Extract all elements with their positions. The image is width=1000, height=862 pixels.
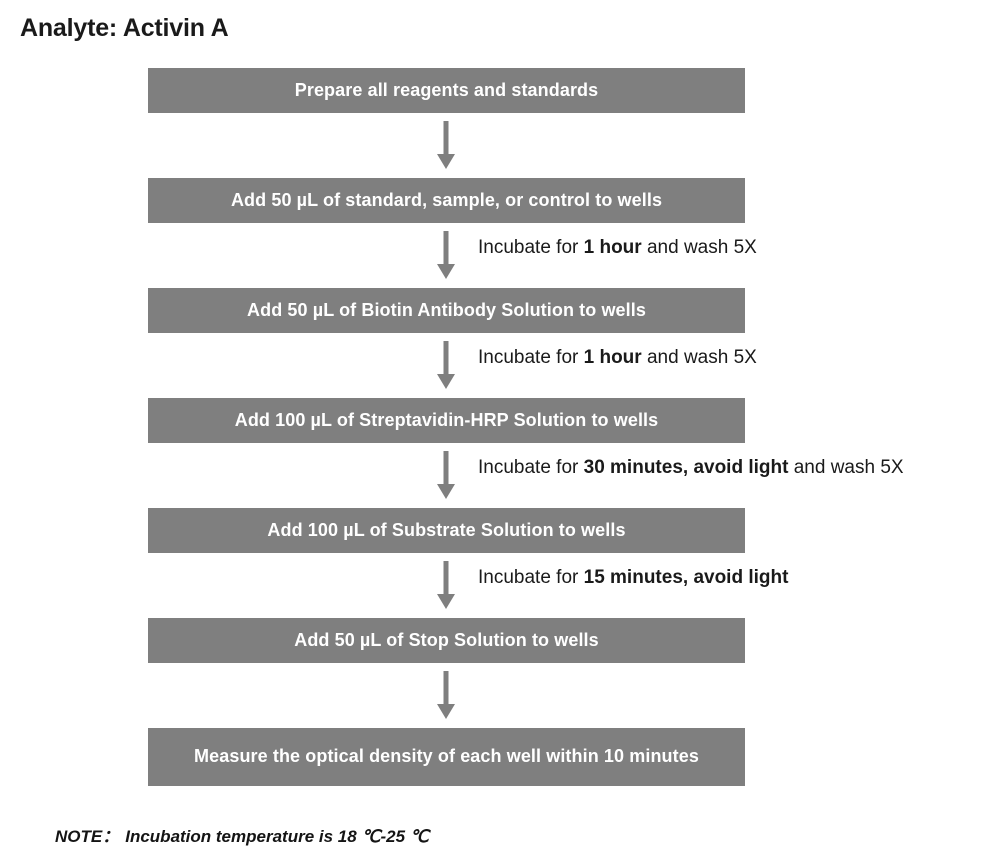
note-prefix: Incubate for <box>478 237 584 258</box>
down-arrow-icon <box>436 671 456 721</box>
note-suffix: and wash 5X <box>642 347 757 368</box>
arrow-shaft <box>444 231 449 267</box>
flow-connector-note: Incubate for 1 hour and wash 5X <box>478 347 757 370</box>
flow-connector-note: Incubate for 1 hour and wash 5X <box>478 237 757 260</box>
flow-connector-5: Incubate for 15 minutes, avoid light <box>148 553 745 618</box>
protocol-flowchart: Prepare all reagents and standards Add 5… <box>148 68 745 786</box>
arrow-head <box>437 154 455 169</box>
down-arrow-icon <box>436 451 456 501</box>
flow-step-add-biotin-antibody: Add 50 µL of Biotin Antibody Solution to… <box>148 288 745 333</box>
flow-step-label: Add 50 µL of Biotin Antibody Solution to… <box>247 299 646 322</box>
flowchart-page: Analyte: Activin A Prepare all reagents … <box>0 0 1000 862</box>
arrow-head <box>437 704 455 719</box>
flow-connector-note: Incubate for 15 minutes, avoid light <box>478 567 788 590</box>
flow-step-measure-optical-density: Measure the optical density of each well… <box>148 728 745 786</box>
note-emphasis: 30 minutes, avoid light <box>584 457 789 478</box>
note-suffix: and wash 5X <box>788 457 903 478</box>
note-suffix: and wash 5X <box>642 237 757 258</box>
note-prefix: Incubate for <box>478 457 584 478</box>
flow-step-label: Measure the optical density of each well… <box>194 745 699 768</box>
down-arrow-icon <box>436 121 456 171</box>
arrow-shaft <box>444 341 449 377</box>
footer-note: NOTE：Incubation temperature is 18 ℃-25 ℃ <box>55 822 429 847</box>
arrow-shaft <box>444 561 449 597</box>
flow-step-label: Add 50 µL of Stop Solution to wells <box>294 629 599 652</box>
note-emphasis: 15 minutes, avoid light <box>584 567 789 588</box>
arrow-head <box>437 264 455 279</box>
note-prefix: Incubate for <box>478 567 584 588</box>
flow-step-add-substrate-solution: Add 100 µL of Substrate Solution to well… <box>148 508 745 553</box>
arrow-head <box>437 594 455 609</box>
flow-connector-3: Incubate for 1 hour and wash 5X <box>148 333 745 398</box>
flow-connector-1 <box>148 113 745 178</box>
down-arrow-icon <box>436 561 456 611</box>
flow-step-add-streptavidin-hrp: Add 100 µL of Streptavidin-HRP Solution … <box>148 398 745 443</box>
footer-note-label: NOTE： <box>55 827 119 846</box>
arrow-shaft <box>444 671 449 707</box>
footer-note-text: Incubation temperature is 18 ℃-25 ℃ <box>125 827 429 846</box>
down-arrow-icon <box>436 231 456 281</box>
page-title: Analyte: Activin A <box>20 14 228 43</box>
flow-connector-6 <box>148 663 745 728</box>
flow-step-label: Add 50 µL of standard, sample, or contro… <box>231 189 662 212</box>
flow-connector-2: Incubate for 1 hour and wash 5X <box>148 223 745 288</box>
flow-step-label: Add 100 µL of Substrate Solution to well… <box>267 519 625 542</box>
down-arrow-icon <box>436 341 456 391</box>
arrow-shaft <box>444 451 449 487</box>
note-prefix: Incubate for <box>478 347 584 368</box>
arrow-shaft <box>444 121 449 157</box>
flow-step-label: Prepare all reagents and standards <box>295 79 599 102</box>
flow-step-label: Add 100 µL of Streptavidin-HRP Solution … <box>235 409 659 432</box>
flow-connector-note: Incubate for 30 minutes, avoid light and… <box>478 457 904 480</box>
flow-step-add-stop-solution: Add 50 µL of Stop Solution to wells <box>148 618 745 663</box>
note-emphasis: 1 hour <box>584 237 642 258</box>
flow-step-add-standard-sample: Add 50 µL of standard, sample, or contro… <box>148 178 745 223</box>
note-emphasis: 1 hour <box>584 347 642 368</box>
arrow-head <box>437 484 455 499</box>
arrow-head <box>437 374 455 389</box>
flow-connector-4: Incubate for 30 minutes, avoid light and… <box>148 443 745 508</box>
flow-step-prepare-reagents: Prepare all reagents and standards <box>148 68 745 113</box>
